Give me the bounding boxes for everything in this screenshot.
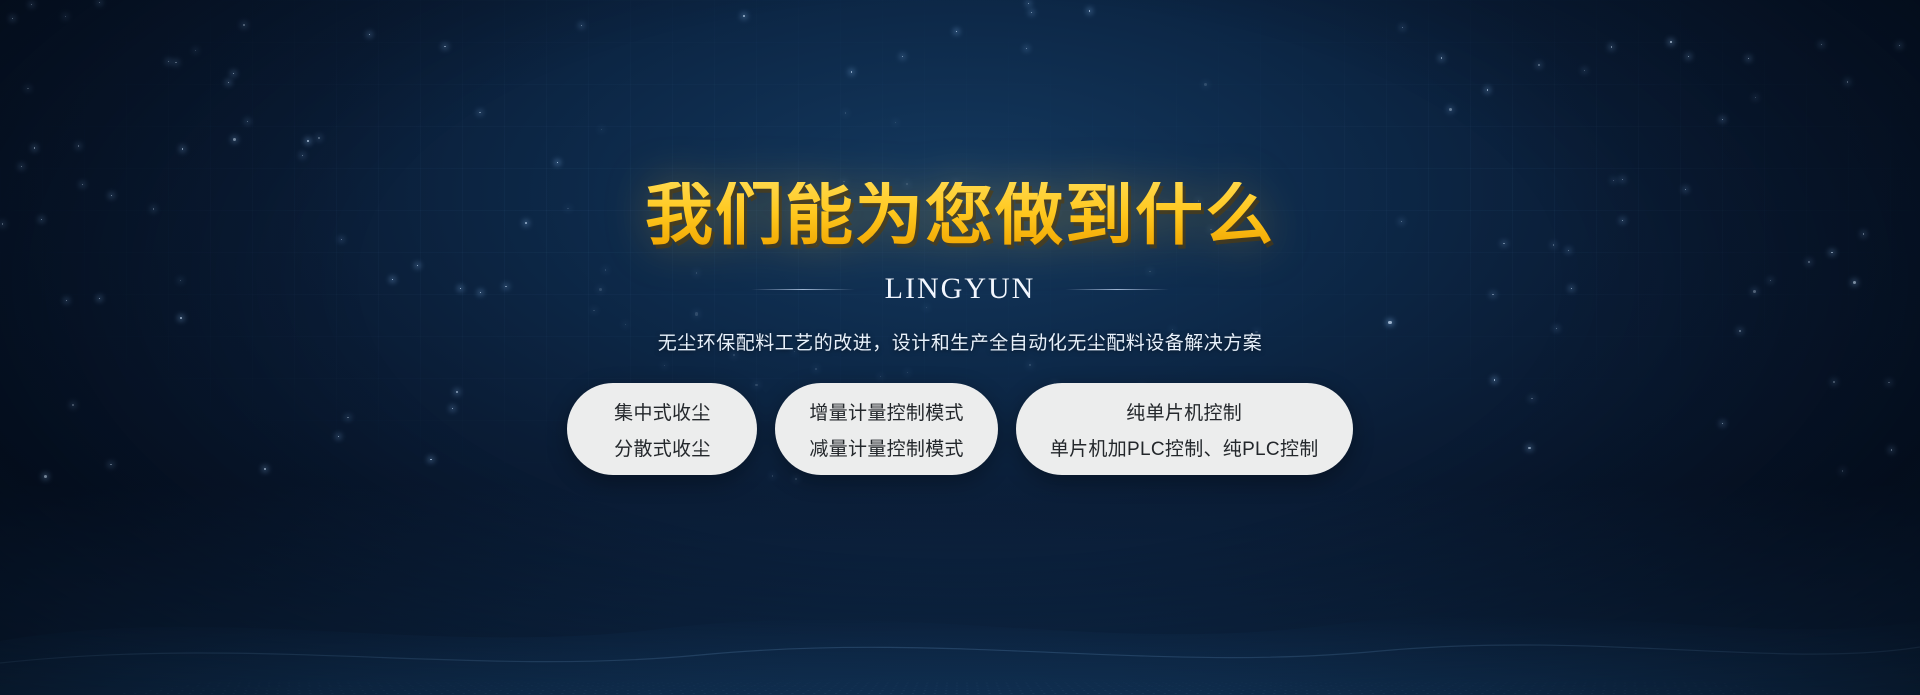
subtitle-row: LINGYUN <box>751 272 1170 306</box>
page-title: 我们能为您做到什么 <box>645 182 1275 250</box>
feature-card-line-2: 单片机加PLC控制、纯PLC控制 <box>1050 434 1319 461</box>
feature-card[interactable]: 集中式收尘 分散式收尘 <box>567 383 757 475</box>
feature-card[interactable]: 增量计量控制模式 减量计量控制模式 <box>775 383 997 475</box>
feature-card-list: 集中式收尘 分散式收尘 增量计量控制模式 减量计量控制模式 纯单片机控制 单片机… <box>567 383 1352 475</box>
divider-line-left <box>751 289 855 290</box>
feature-card-line-2: 分散式收尘 <box>614 434 711 461</box>
feature-card-line-2: 减量计量控制模式 <box>809 434 963 461</box>
feature-card-line-1: 纯单片机控制 <box>1126 398 1242 425</box>
feature-card-line-1: 集中式收尘 <box>614 398 711 425</box>
feature-card[interactable]: 纯单片机控制 单片机加PLC控制、纯PLC控制 <box>1016 383 1353 475</box>
banner-description: 无尘环保配料工艺的改进，设计和生产全自动化无尘配料设备解决方案 <box>658 328 1263 355</box>
hero-banner: 我们能为您做到什么 LINGYUN 无尘环保配料工艺的改进，设计和生产全自动化无… <box>0 0 1920 695</box>
banner-content: 我们能为您做到什么 LINGYUN 无尘环保配料工艺的改进，设计和生产全自动化无… <box>0 0 1920 695</box>
divider-line-right <box>1065 289 1169 290</box>
feature-card-line-1: 增量计量控制模式 <box>809 398 963 425</box>
brand-subtitle: LINGYUN <box>885 272 1036 306</box>
